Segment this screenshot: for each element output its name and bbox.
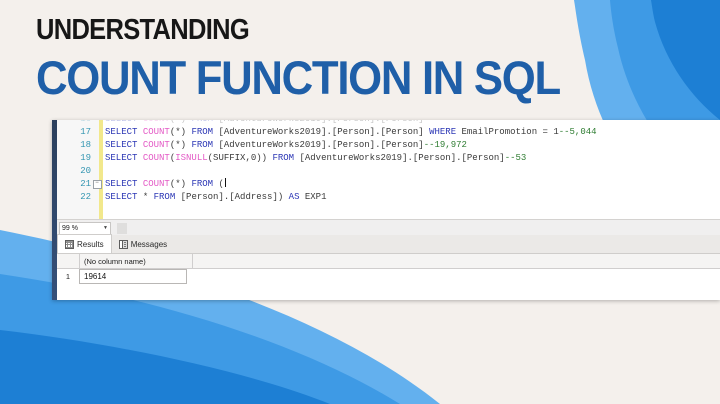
code-token: COUNT bbox=[143, 140, 170, 150]
page-title: COUNT FUNCTION IN SQL bbox=[36, 54, 631, 101]
code-text: SELECT COUNT(ISNULL(SUFFIX,0)) FROM [Adv… bbox=[103, 152, 526, 165]
code-token: SELECT bbox=[105, 120, 143, 124]
code-token: COUNT bbox=[143, 179, 170, 189]
code-token: COUNT bbox=[143, 120, 170, 124]
results-tab-messages[interactable]: Messages bbox=[112, 236, 174, 253]
code-text: SELECT COUNT(*) FROM [AdventureWorks2019… bbox=[103, 126, 597, 139]
code-token: --5,044 bbox=[559, 127, 597, 137]
code-token: [AdventureWorks2019].[Person].[Person] bbox=[218, 120, 423, 124]
code-line[interactable]: 20 bbox=[57, 165, 720, 178]
code-token: FROM bbox=[191, 179, 218, 189]
code-text: SELECT COUNT(*) FROM ( bbox=[103, 178, 226, 191]
code-token: FROM bbox=[272, 153, 299, 163]
code-token: SELECT bbox=[105, 127, 143, 137]
code-token: * bbox=[143, 192, 154, 202]
line-number: 21 bbox=[57, 178, 91, 191]
code-line[interactable]: 16SELECT COUNT(*) FROM [AdventureWorks20… bbox=[57, 120, 720, 126]
code-token: SELECT bbox=[105, 179, 143, 189]
code-line[interactable]: 21−SELECT COUNT(*) FROM ( bbox=[57, 178, 720, 191]
results-grid-body: 119614 bbox=[57, 269, 720, 284]
zoom-level-dropdown[interactable]: 99 % ▼ bbox=[59, 222, 111, 235]
grid-corner-header[interactable] bbox=[57, 254, 80, 268]
zoom-level-value: 99 % bbox=[62, 225, 78, 232]
line-number: 22 bbox=[57, 191, 91, 204]
code-token: (*) bbox=[170, 120, 192, 124]
code-line[interactable]: 22SELECT * FROM [Person].[Address]) AS E… bbox=[57, 191, 720, 204]
code-token: (SUFFIX,0)) bbox=[208, 153, 273, 163]
code-token: AS bbox=[289, 192, 305, 202]
code-token: [AdventureWorks2019].[Person].[Person] bbox=[218, 140, 423, 150]
code-token: [AdventureWorks2019].[Person].[Person] bbox=[299, 153, 504, 163]
code-token: COUNT bbox=[143, 153, 170, 163]
grid-cell[interactable]: 19614 bbox=[79, 269, 187, 284]
text-caret bbox=[225, 178, 226, 187]
scrollbar-thumb[interactable] bbox=[117, 223, 127, 234]
code-token: EXP1 bbox=[305, 192, 327, 202]
code-text: SELECT * FROM [Person].[Address]) AS EXP… bbox=[103, 191, 326, 204]
editor-status-strip: 99 % ▼ bbox=[57, 219, 720, 236]
code-token: --19,972 bbox=[424, 140, 467, 150]
grid-icon bbox=[65, 240, 74, 249]
line-number: 18 bbox=[57, 139, 91, 152]
code-line[interactable]: 17SELECT COUNT(*) FROM [AdventureWorks20… bbox=[57, 126, 720, 139]
results-pane: ResultsMessages (No column name) 119614 bbox=[57, 235, 720, 300]
code-token: EmailPromotion = 1 bbox=[462, 127, 559, 137]
headline-block: UNDERSTANDING COUNT FUNCTION IN SQL bbox=[36, 16, 676, 101]
code-token: FROM bbox=[191, 120, 218, 124]
results-tab-label: Messages bbox=[131, 240, 167, 249]
code-line[interactable]: 19SELECT COUNT(ISNULL(SUFFIX,0)) FROM [A… bbox=[57, 152, 720, 165]
line-number: 19 bbox=[57, 152, 91, 165]
editor-horizontal-scrollbar[interactable] bbox=[117, 223, 720, 234]
fold-region[interactable]: − bbox=[91, 180, 103, 189]
line-number: 17 bbox=[57, 126, 91, 139]
chevron-down-icon: ▼ bbox=[103, 226, 108, 231]
results-tab-results[interactable]: Results bbox=[57, 234, 112, 253]
code-token: [AdventureWorks2019].[Person].[Person] bbox=[218, 127, 429, 137]
code-token: FROM bbox=[154, 192, 181, 202]
code-token: COUNT bbox=[143, 127, 170, 137]
code-token: WHERE bbox=[429, 127, 461, 137]
ssms-window: 16SELECT COUNT(*) FROM [AdventureWorks20… bbox=[52, 120, 720, 300]
results-tab-label: Results bbox=[77, 240, 104, 249]
code-token: SELECT bbox=[105, 153, 143, 163]
grid-column-header[interactable]: (No column name) bbox=[80, 254, 193, 268]
code-lines: 16SELECT COUNT(*) FROM [AdventureWorks20… bbox=[57, 120, 720, 204]
code-token: FROM bbox=[191, 140, 218, 150]
collapse-minus-icon[interactable]: − bbox=[93, 180, 102, 189]
code-line[interactable]: 18SELECT COUNT(*) FROM [AdventureWorks20… bbox=[57, 139, 720, 152]
results-grid: (No column name) 119614 bbox=[57, 254, 720, 300]
code-token: ISNULL bbox=[175, 153, 207, 163]
messages-icon bbox=[119, 240, 128, 249]
code-token: (*) bbox=[170, 140, 192, 150]
code-token: ( bbox=[218, 179, 223, 189]
sql-editor[interactable]: 16SELECT COUNT(*) FROM [AdventureWorks20… bbox=[57, 120, 720, 219]
code-token: [Person].[Address]) bbox=[181, 192, 289, 202]
code-token: --53 bbox=[505, 153, 527, 163]
table-row[interactable]: 119614 bbox=[57, 269, 720, 284]
code-text: SELECT COUNT(*) FROM [AdventureWorks2019… bbox=[103, 139, 467, 152]
code-token: SELECT bbox=[105, 192, 143, 202]
code-token: SELECT bbox=[105, 140, 143, 150]
code-text: SELECT COUNT(*) FROM [AdventureWorks2019… bbox=[103, 120, 424, 126]
code-token: (*) bbox=[170, 127, 192, 137]
code-token: FROM bbox=[191, 127, 218, 137]
results-grid-header: (No column name) bbox=[57, 254, 720, 269]
results-tabstrip: ResultsMessages bbox=[57, 235, 720, 254]
line-number: 20 bbox=[57, 165, 91, 178]
row-number[interactable]: 1 bbox=[57, 269, 80, 284]
code-token: (*) bbox=[170, 179, 192, 189]
headline-kicker: UNDERSTANDING bbox=[36, 16, 599, 45]
slide-canvas: UNDERSTANDING COUNT FUNCTION IN SQL 16SE… bbox=[0, 0, 720, 404]
